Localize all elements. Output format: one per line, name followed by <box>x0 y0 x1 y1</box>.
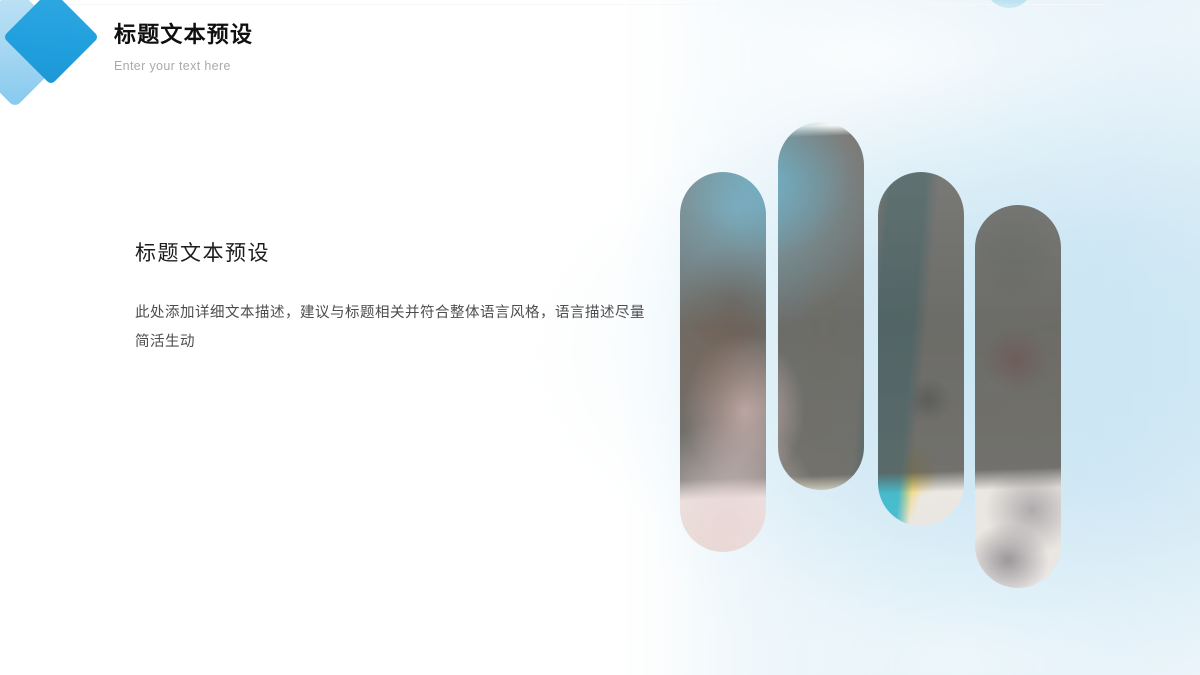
slide-canvas: 标题文本预设 Enter your text here 标题文本预设 此处添加详… <box>0 0 1200 675</box>
collage-photo-slice <box>975 205 1061 588</box>
collage-photo-slice <box>878 172 964 526</box>
content-paragraph: 此处添加详细文本描述，建议与标题相关并符合整体语言风格，语言描述尽量简活生动 <box>135 299 655 357</box>
pill-photo-3 <box>878 172 964 526</box>
collage-photo-slice <box>778 122 864 490</box>
header-text-group: 标题文本预设 Enter your text here <box>114 22 253 73</box>
photo-collage <box>672 0 1092 675</box>
content-heading: 标题文本预设 <box>135 240 660 268</box>
pill-photo-1 <box>680 172 766 552</box>
pill-photo-4 <box>975 205 1061 588</box>
collage-photo-slice <box>680 172 766 552</box>
pill-photo-2 <box>778 122 864 490</box>
page-subtitle: Enter your text here <box>114 59 253 73</box>
pill-photo-ghost <box>985 0 1033 8</box>
page-title: 标题文本预设 <box>114 22 253 48</box>
content-text-block: 标题文本预设 此处添加详细文本描述，建议与标题相关并符合整体语言风格，语言描述尽… <box>135 240 660 357</box>
